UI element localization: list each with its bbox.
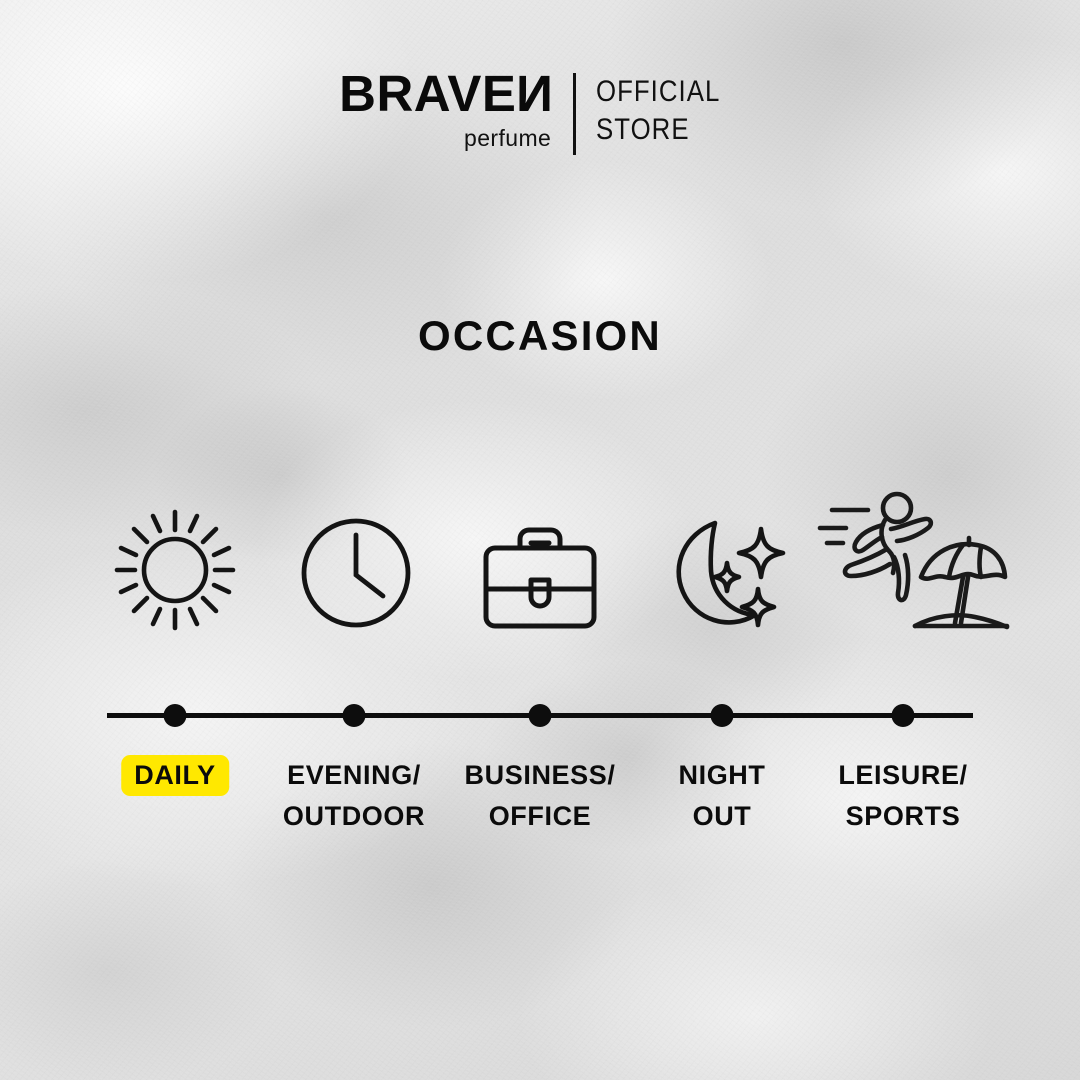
page-title: OCCASION [0,312,1080,360]
label-line-1: NIGHT [679,755,766,796]
occasion-icon-briefcase [480,503,600,653]
brand-header: BRAVE N perfume OFFICIAL STORE [0,72,1080,155]
occasion-icon-runner-umbrella [815,490,1010,640]
official-store-line-2: STORE [596,111,720,149]
brand-tagline: perfume [464,125,551,152]
brand-wordmark-flipped-n: N [516,72,553,116]
label-line-2: OUTDOOR [283,796,425,837]
label-line-2: SPORTS [838,796,967,837]
label-line-1: LEISURE/ [838,755,967,796]
official-store-line-1: OFFICIAL [596,73,720,111]
occasion-icon-moon-stars [665,496,795,646]
brand-wordmark: BRAVE N [339,72,553,116]
brand-logo: BRAVE N perfume [339,72,553,152]
timeline-dot-business[interactable] [529,704,552,727]
timeline-label-business[interactable]: BUSINESS/ OFFICE [465,755,616,837]
occasion-icon-clock [296,498,416,648]
label-line-1: EVENING/ [283,755,425,796]
label-line-2: OFFICE [465,796,616,837]
daily-highlight: DAILY [121,755,229,796]
occasion-icon-sun [105,495,245,645]
timeline-dot-daily[interactable] [164,704,187,727]
label-line-1: BUSINESS/ [465,755,616,796]
timeline-dot-night[interactable] [711,704,734,727]
label-line-2: OUT [679,796,766,837]
logo-divider [573,73,576,155]
timeline-label-daily[interactable]: DAILY [121,755,229,796]
brand-wordmark-main: BRAVE [339,72,516,116]
official-store-badge: OFFICIAL STORE [596,72,741,149]
timeline-dot-leisure[interactable] [892,704,915,727]
timeline-dot-evening[interactable] [343,704,366,727]
timeline-label-evening[interactable]: EVENING/ OUTDOOR [283,755,425,837]
timeline-label-leisure[interactable]: LEISURE/ SPORTS [838,755,967,837]
timeline-label-night[interactable]: NIGHT OUT [679,755,766,837]
occasion-timeline: DAILY EVENING/ OUTDOOR BUSINESS/ OFFICE … [0,470,1080,850]
